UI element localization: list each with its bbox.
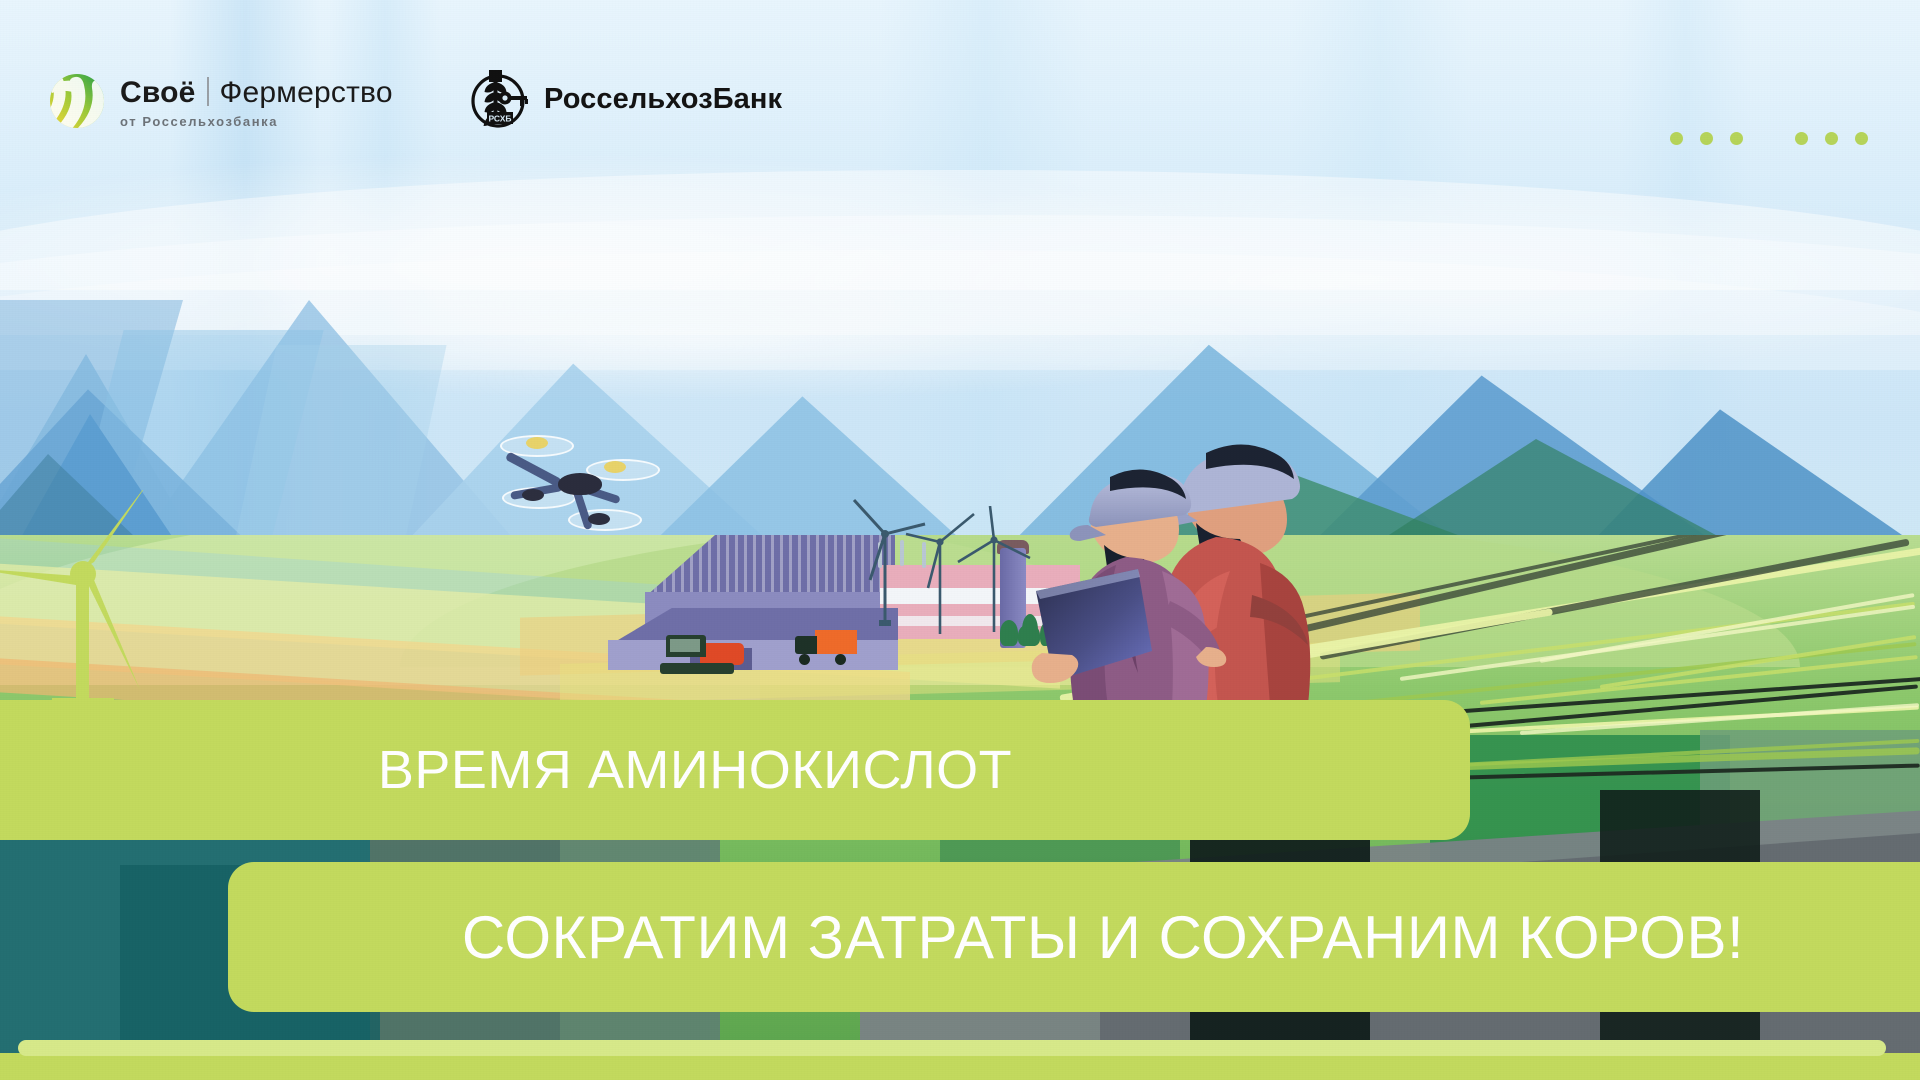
svoe-logo-subtitle: от Россельхозбанка: [120, 114, 393, 129]
footer-bar: [0, 1053, 1920, 1080]
dot: [1670, 132, 1683, 145]
rosselkhozbank-name: РоссельхозБанк: [544, 83, 782, 116]
banner-title: ВРЕМЯ АМИНОКИСЛОТ: [0, 700, 1470, 840]
truck-icon: [795, 630, 857, 664]
svoe-word-bold: Своё: [120, 76, 196, 110]
drone-icon: [500, 425, 660, 535]
combine-harvester-icon: [660, 635, 746, 677]
dot: [1795, 132, 1808, 145]
dot: [1855, 132, 1868, 145]
wind-turbine-large-icon: [0, 490, 220, 705]
svoe-fermerstvo-logo[interactable]: Своё Фермерство от Россельхозбанка: [48, 72, 393, 130]
banner-subtitle-text: СОКРАТИМ ЗАТРАТЫ И СОХРАНИМ КОРОВ!: [442, 903, 1744, 972]
header: Своё Фермерство от Россельхозбанка: [0, 0, 1920, 170]
rosselkhozbank-logo[interactable]: РСХБ РоссельхозБанк: [467, 68, 782, 130]
decorative-dots: [1670, 132, 1868, 145]
wheat-key-circle-icon: РСХБ: [467, 68, 529, 130]
svoe-logo-text: Своё Фермерство от Россельхозбанка: [120, 73, 393, 129]
leaf-sphere-icon: [48, 72, 106, 130]
banner-title-text: ВРЕМЯ АМИНОКИСЛОТ: [378, 739, 1052, 801]
footer-pill: [18, 1040, 1886, 1056]
dot: [1825, 132, 1838, 145]
svoe-word-regular: Фермерство: [220, 76, 393, 110]
svg-text:РСХБ: РСХБ: [488, 114, 511, 124]
dot: [1730, 132, 1743, 145]
banner-subtitle: СОКРАТИМ ЗАТРАТЫ И СОХРАНИМ КОРОВ!: [228, 862, 1920, 1012]
farmers-illustration: [1020, 405, 1350, 705]
promo-slide: Своё Фермерство от Россельхозбанка: [0, 0, 1920, 1080]
dot: [1700, 132, 1713, 145]
logo-divider: [207, 77, 209, 106]
